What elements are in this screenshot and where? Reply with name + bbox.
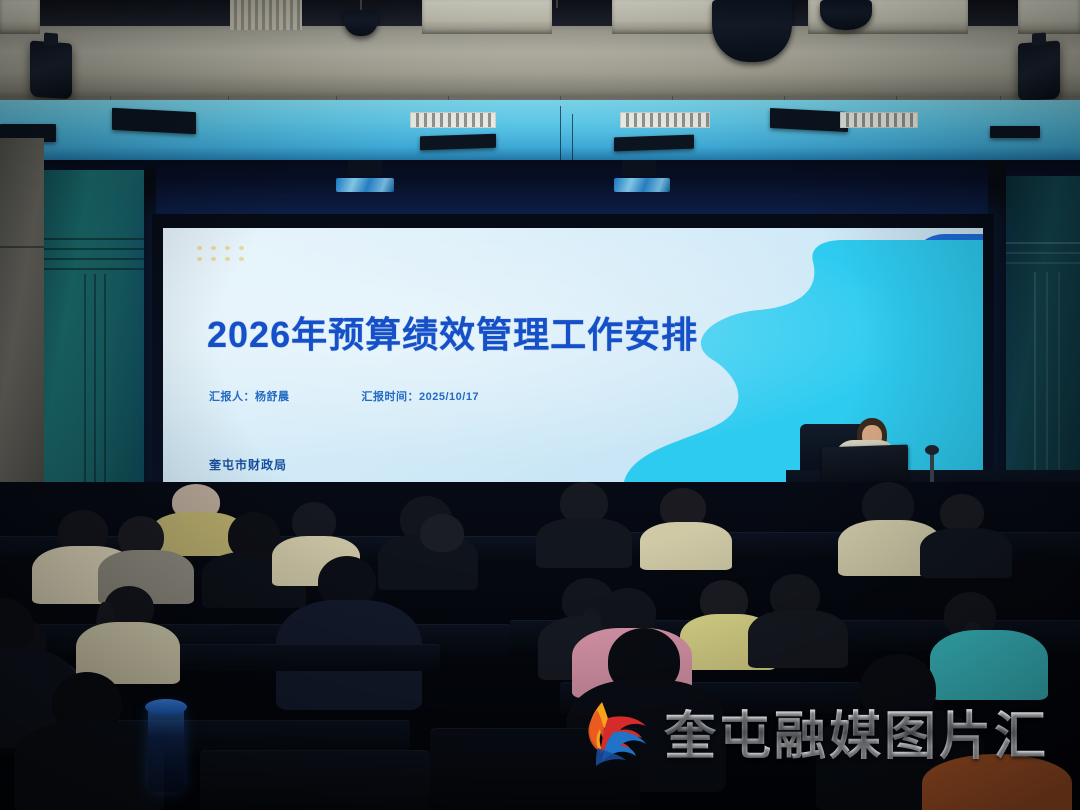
flame-swoosh-logo: [568, 696, 650, 768]
water-glass-icon: [148, 706, 184, 792]
speaker-icon: [30, 41, 72, 100]
watermark: 奎屯融媒图片汇: [568, 694, 1049, 769]
slide-report-time: 汇报时间：2025/10/17: [362, 388, 480, 404]
slide-decorative-dots: [197, 246, 253, 268]
ceiling: [0, 0, 1080, 100]
wall-panel-teal-right: [1006, 176, 1080, 506]
microphone-icon: [930, 452, 934, 484]
wall-panel-teal-left: [44, 170, 144, 504]
slide-reporter: 汇报人：杨舒晨: [209, 388, 290, 404]
conference-hall-photo: 2026年预算绩效管理工作安排 汇报人：杨舒晨 汇报时间：2025/10/17 …: [0, 0, 1080, 810]
slide-title: 2026年预算绩效管理工作安排: [207, 306, 698, 358]
watermark-text: 奎屯融媒图片汇: [664, 694, 1049, 769]
slide-wave-cyan: [563, 240, 983, 484]
slide-organization: 奎屯市财政局: [209, 456, 287, 473]
wall-panel-grey-left: [0, 138, 44, 504]
slide-meta-row: 汇报人：杨舒晨 汇报时间：2025/10/17: [209, 388, 479, 404]
laptop-icon: [822, 444, 908, 483]
reflective-ceiling-band: [0, 100, 1080, 162]
speaker-icon: [1018, 41, 1060, 102]
